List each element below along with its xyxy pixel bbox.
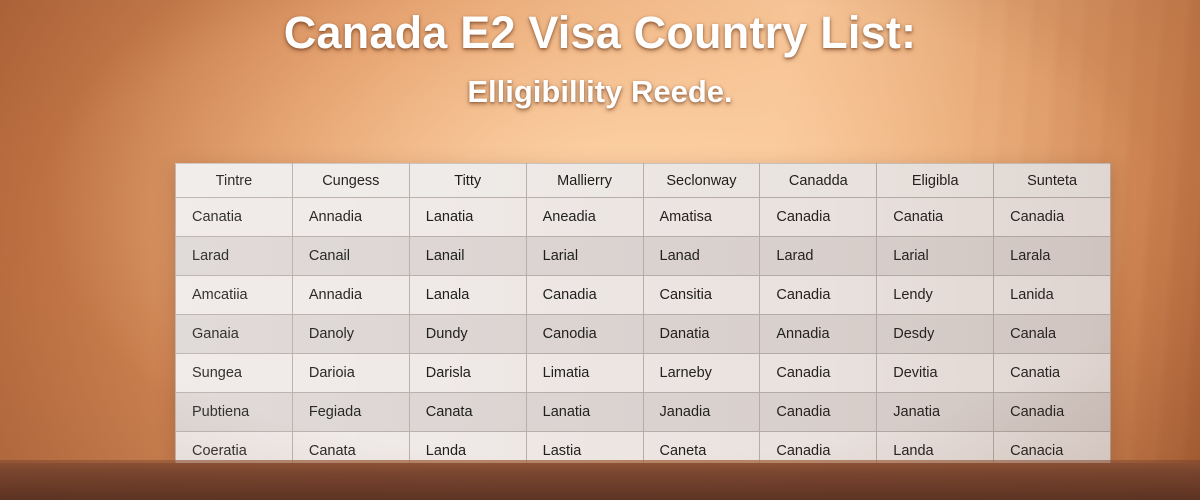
- table-row: SungeaDarioiaDarislaLimatiaLarnebyCanadi…: [176, 354, 1111, 393]
- table-cell: Canadia: [760, 198, 877, 237]
- country-table: TintreCungessTittyMallierrySeclonwayCana…: [175, 163, 1111, 500]
- table-cell: Canala: [994, 315, 1111, 354]
- table-row: CanatiaAnnadiaLanatiaAneadiaAmatisaCanad…: [176, 198, 1111, 237]
- table-cell: Annadia: [760, 315, 877, 354]
- table-cell: Cansitia: [643, 276, 760, 315]
- table-cell: Darioia: [292, 354, 409, 393]
- table-cell: Canadia: [760, 276, 877, 315]
- table-cell: Darisla: [409, 354, 526, 393]
- table-header-row: TintreCungessTittyMallierrySeclonwayCana…: [176, 164, 1111, 198]
- table-cell: Annadia: [292, 198, 409, 237]
- table-header: TintreCungessTittyMallierrySeclonwayCana…: [176, 164, 1111, 198]
- table-cell: Amcatiia: [176, 276, 293, 315]
- desk-surface: [0, 463, 1200, 500]
- table-cell: Lanail: [409, 237, 526, 276]
- country-table-container: TintreCungessTittyMallierrySeclonwayCana…: [175, 163, 1111, 500]
- table-cell: Canatia: [994, 354, 1111, 393]
- table-cell: Annadia: [292, 276, 409, 315]
- table-body: CanatiaAnnadiaLanatiaAneadiaAmatisaCanad…: [176, 198, 1111, 500]
- poster-scene: Canada E2 Visa Country List: Elligibilli…: [0, 0, 1200, 500]
- page-title: Canada E2 Visa Country List:: [0, 6, 1200, 59]
- table-cell: Ganaia: [176, 315, 293, 354]
- column-header-5[interactable]: Seclonway: [643, 164, 760, 198]
- table-cell: Canodia: [526, 315, 643, 354]
- table-cell: Janatia: [877, 393, 994, 432]
- table-cell: Larneby: [643, 354, 760, 393]
- table-cell: Larad: [176, 237, 293, 276]
- table-cell: Canadia: [760, 393, 877, 432]
- table-cell: Larad: [760, 237, 877, 276]
- table-row: GanaiaDanolyDundyCanodiaDanatiaAnnadiaDe…: [176, 315, 1111, 354]
- poster-heading: Canada E2 Visa Country List: Elligibilli…: [0, 6, 1200, 110]
- table-cell: Canadia: [526, 276, 643, 315]
- table-cell: Canail: [292, 237, 409, 276]
- table-cell: Pubtiena: [176, 393, 293, 432]
- column-header-4[interactable]: Mallierry: [526, 164, 643, 198]
- table-cell: Danoly: [292, 315, 409, 354]
- table-cell: Larial: [877, 237, 994, 276]
- column-header-1[interactable]: Tintre: [176, 164, 293, 198]
- table-cell: Danatia: [643, 315, 760, 354]
- table-cell: Lanida: [994, 276, 1111, 315]
- table-cell: Canatia: [176, 198, 293, 237]
- table-cell: Larial: [526, 237, 643, 276]
- table-cell: Sungea: [176, 354, 293, 393]
- table-cell: Larala: [994, 237, 1111, 276]
- table-cell: Desdy: [877, 315, 994, 354]
- table-cell: Amatisa: [643, 198, 760, 237]
- table-cell: Canadia: [760, 354, 877, 393]
- table-cell: Devitia: [877, 354, 994, 393]
- column-header-7[interactable]: Eligibla: [877, 164, 994, 198]
- table-cell: Canadia: [994, 393, 1111, 432]
- table-row: PubtienaFegiadaCanataLanatiaJanadiaCanad…: [176, 393, 1111, 432]
- table-cell: Canatia: [877, 198, 994, 237]
- table-row: LaradCanailLanailLarialLanadLaradLarialL…: [176, 237, 1111, 276]
- table-row: AmcatiiaAnnadiaLanalaCanadiaCansitiaCana…: [176, 276, 1111, 315]
- column-header-8[interactable]: Sunteta: [994, 164, 1111, 198]
- table-cell: Lanad: [643, 237, 760, 276]
- page-subtitle: Elligibillity Reede.: [0, 73, 1200, 110]
- table-cell: Lanatia: [526, 393, 643, 432]
- table-cell: Janadia: [643, 393, 760, 432]
- table-cell: Canata: [409, 393, 526, 432]
- table-cell: Lanala: [409, 276, 526, 315]
- table-cell: Dundy: [409, 315, 526, 354]
- table-cell: Canadia: [994, 198, 1111, 237]
- table-cell: Lendy: [877, 276, 994, 315]
- column-header-6[interactable]: Canadda: [760, 164, 877, 198]
- column-header-3[interactable]: Titty: [409, 164, 526, 198]
- table-cell: Lanatia: [409, 198, 526, 237]
- table-cell: Aneadia: [526, 198, 643, 237]
- column-header-2[interactable]: Cungess: [292, 164, 409, 198]
- table-cell: Limatia: [526, 354, 643, 393]
- table-cell: Fegiada: [292, 393, 409, 432]
